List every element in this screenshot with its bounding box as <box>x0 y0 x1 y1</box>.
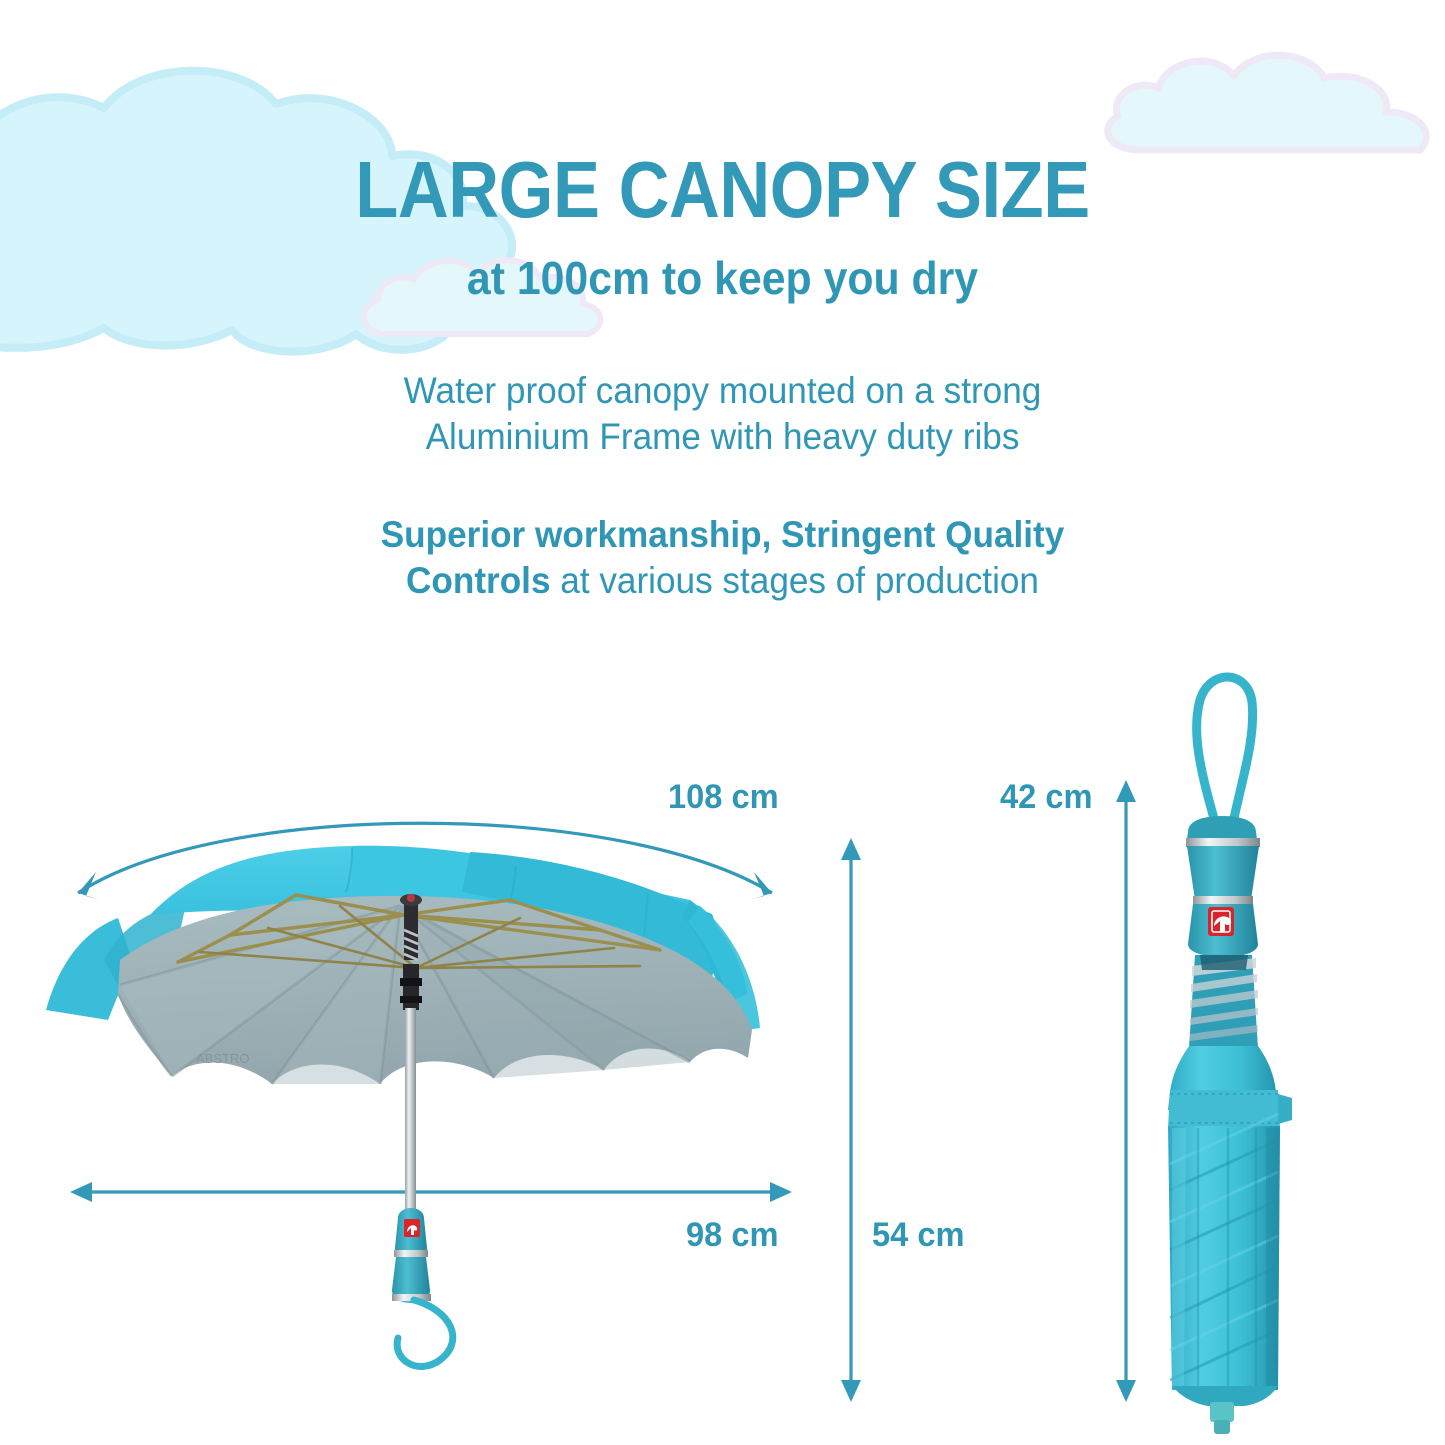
dimension-label-folded-height: 42 cm <box>1000 778 1093 816</box>
canopy-brand-mark: ABSTRO <box>196 1051 249 1066</box>
dimension-label-open-height: 54 cm <box>872 1216 965 1254</box>
dimension-horizontal-98 <box>70 1182 792 1202</box>
dimension-label-open-width: 98 cm <box>686 1216 779 1254</box>
open-umbrella-photo: ABSTRO <box>46 846 760 1367</box>
dimension-label-arc-span: 108 cm <box>668 778 779 816</box>
infographic-page: LARGE CANOPY SIZE at 100cm to keep you d… <box>0 0 1445 1445</box>
folded-umbrella-photo <box>1168 677 1292 1434</box>
folded-strap-loop <box>1197 677 1253 828</box>
dimension-vertical-42 <box>1116 780 1136 1402</box>
dimension-vertical-54 <box>841 838 861 1402</box>
